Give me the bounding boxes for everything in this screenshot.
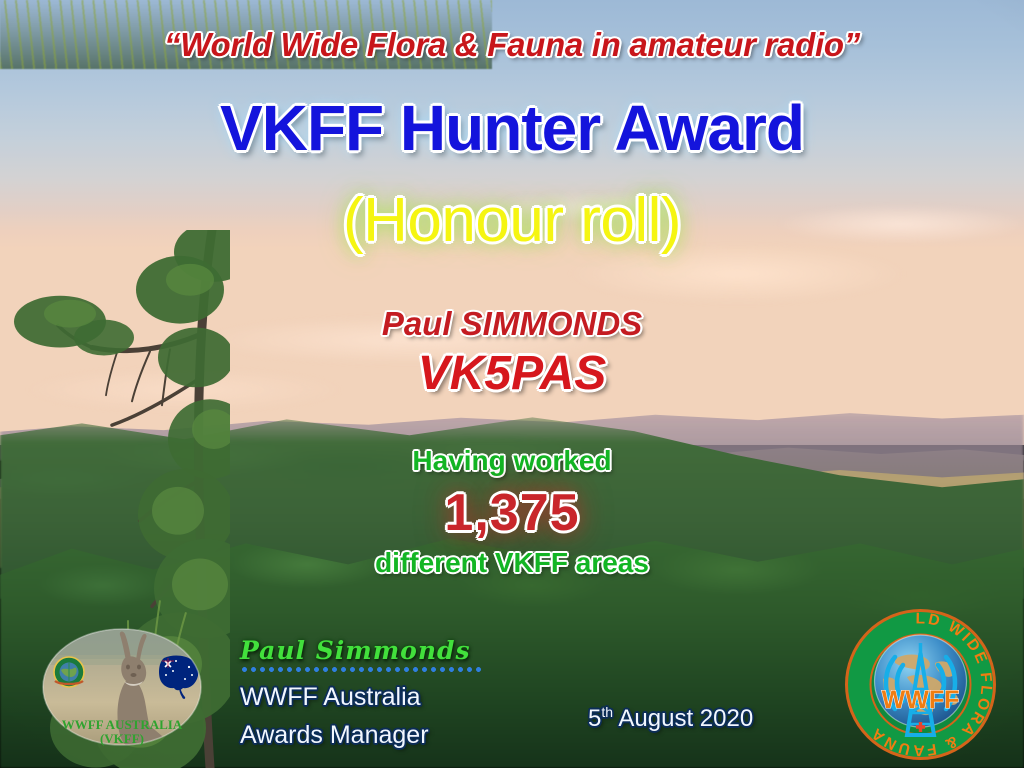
areas-label: different VKFF areas — [0, 549, 1024, 577]
signer-organisation: WWFF Australia — [240, 683, 540, 712]
signature-block: Paul Simmonds WWFF Australia Awards Mana… — [240, 636, 540, 750]
vkff-logo-line1: WWFF AUSTRALIA — [62, 717, 183, 732]
issue-date: 5th August 2020 — [588, 704, 753, 733]
signature-dotted-rule — [240, 667, 482, 672]
award-title: VKFF Hunter Award — [0, 96, 1024, 160]
motto-tagline: “World Wide Flora & Fauna in amateur rad… — [0, 28, 1024, 61]
vkff-logo-line2: (VKFF) — [100, 731, 144, 746]
wwff-australia-vkff-logo: WWFF AUSTRALIA (VKFF) — [40, 625, 205, 750]
worked-count: 1,375 — [0, 487, 1024, 539]
handwritten-signature: Paul Simmonds — [240, 636, 540, 665]
wwff-mini-emblem — [54, 657, 84, 687]
issue-date-month-year: August 2020 — [613, 705, 753, 732]
signer-role: Awards Manager — [240, 721, 540, 750]
issue-date-day: 5 — [588, 705, 601, 732]
wwff-logo: WWFF WORLD WIDE FLORA & FAUNA — [843, 607, 998, 762]
issue-date-ordinal: th — [601, 704, 613, 720]
recipient-name: Paul SIMMONDS — [0, 307, 1024, 340]
worked-label: Having worked — [0, 447, 1024, 475]
recipient-callsign: VK5PAS — [0, 350, 1024, 398]
wwff-wordmark: WWFF — [882, 686, 960, 714]
award-subtitle: (Honour roll) — [0, 190, 1024, 252]
award-certificate: “World Wide Flora & Fauna in amateur rad… — [0, 0, 1024, 768]
